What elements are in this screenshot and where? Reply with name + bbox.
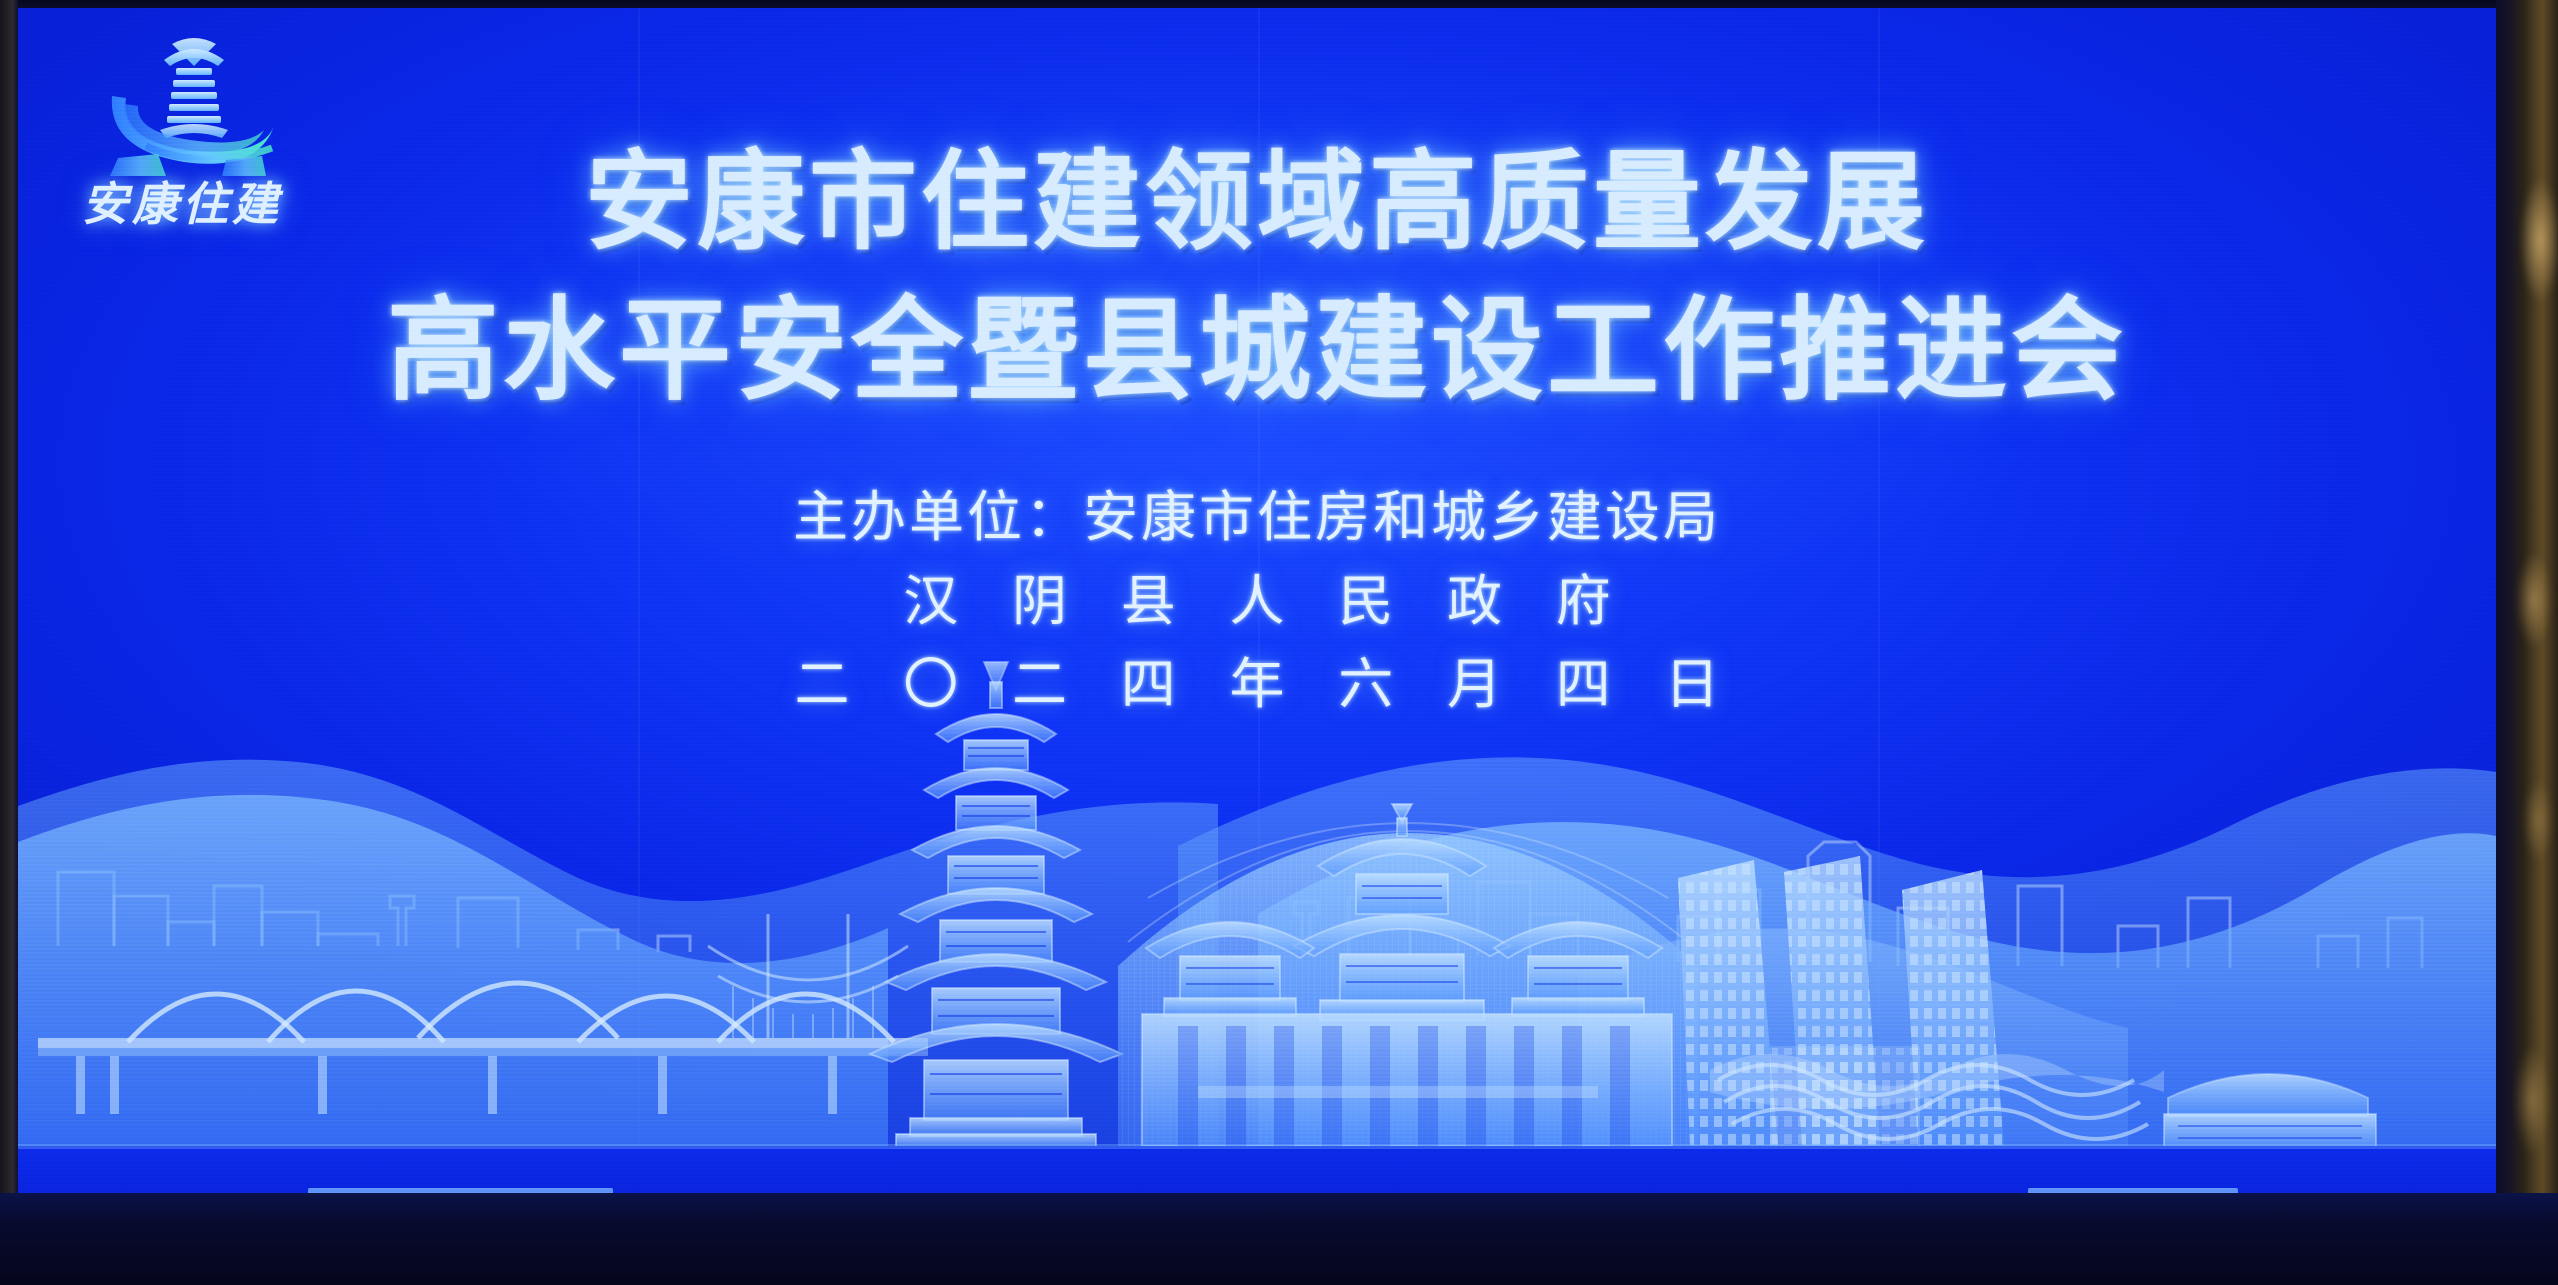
subtitle-block: 主办单位：安康市住房和城乡建设局 汉 阴 县 人 民 政 府 二 〇 二 四 年… <box>18 476 2496 727</box>
room-edge-right <box>2496 0 2558 1285</box>
city-scenery-illustration <box>18 646 2496 1206</box>
co-host-government: 汉 阴 县 人 民 政 府 <box>18 560 2496 644</box>
title-block: 安康市住建领域高质量发展 高水平安全暨县城建设工作推进会 <box>18 138 2496 420</box>
led-display-screen: 安康住建 安康市住建领域高质量发展 高水平安全暨县城建设工作推进会 主办单位：安… <box>18 8 2496 1206</box>
host-organization: 主办单位：安康市住房和城乡建设局 <box>18 476 2496 560</box>
screen-bezel-left <box>0 0 18 1285</box>
title-line-2: 高水平安全暨县城建设工作推进会 <box>18 284 2496 421</box>
screen-bezel-bottom <box>0 1193 2558 1285</box>
event-date: 二 〇 二 四 年 六 月 四 日 <box>18 643 2496 727</box>
photographed-stage-backdrop: 安康住建 安康市住建领域高质量发展 高水平安全暨县城建设工作推进会 主办单位：安… <box>0 0 2558 1285</box>
title-line-1: 安康市住建领域高质量发展 <box>18 138 2496 270</box>
